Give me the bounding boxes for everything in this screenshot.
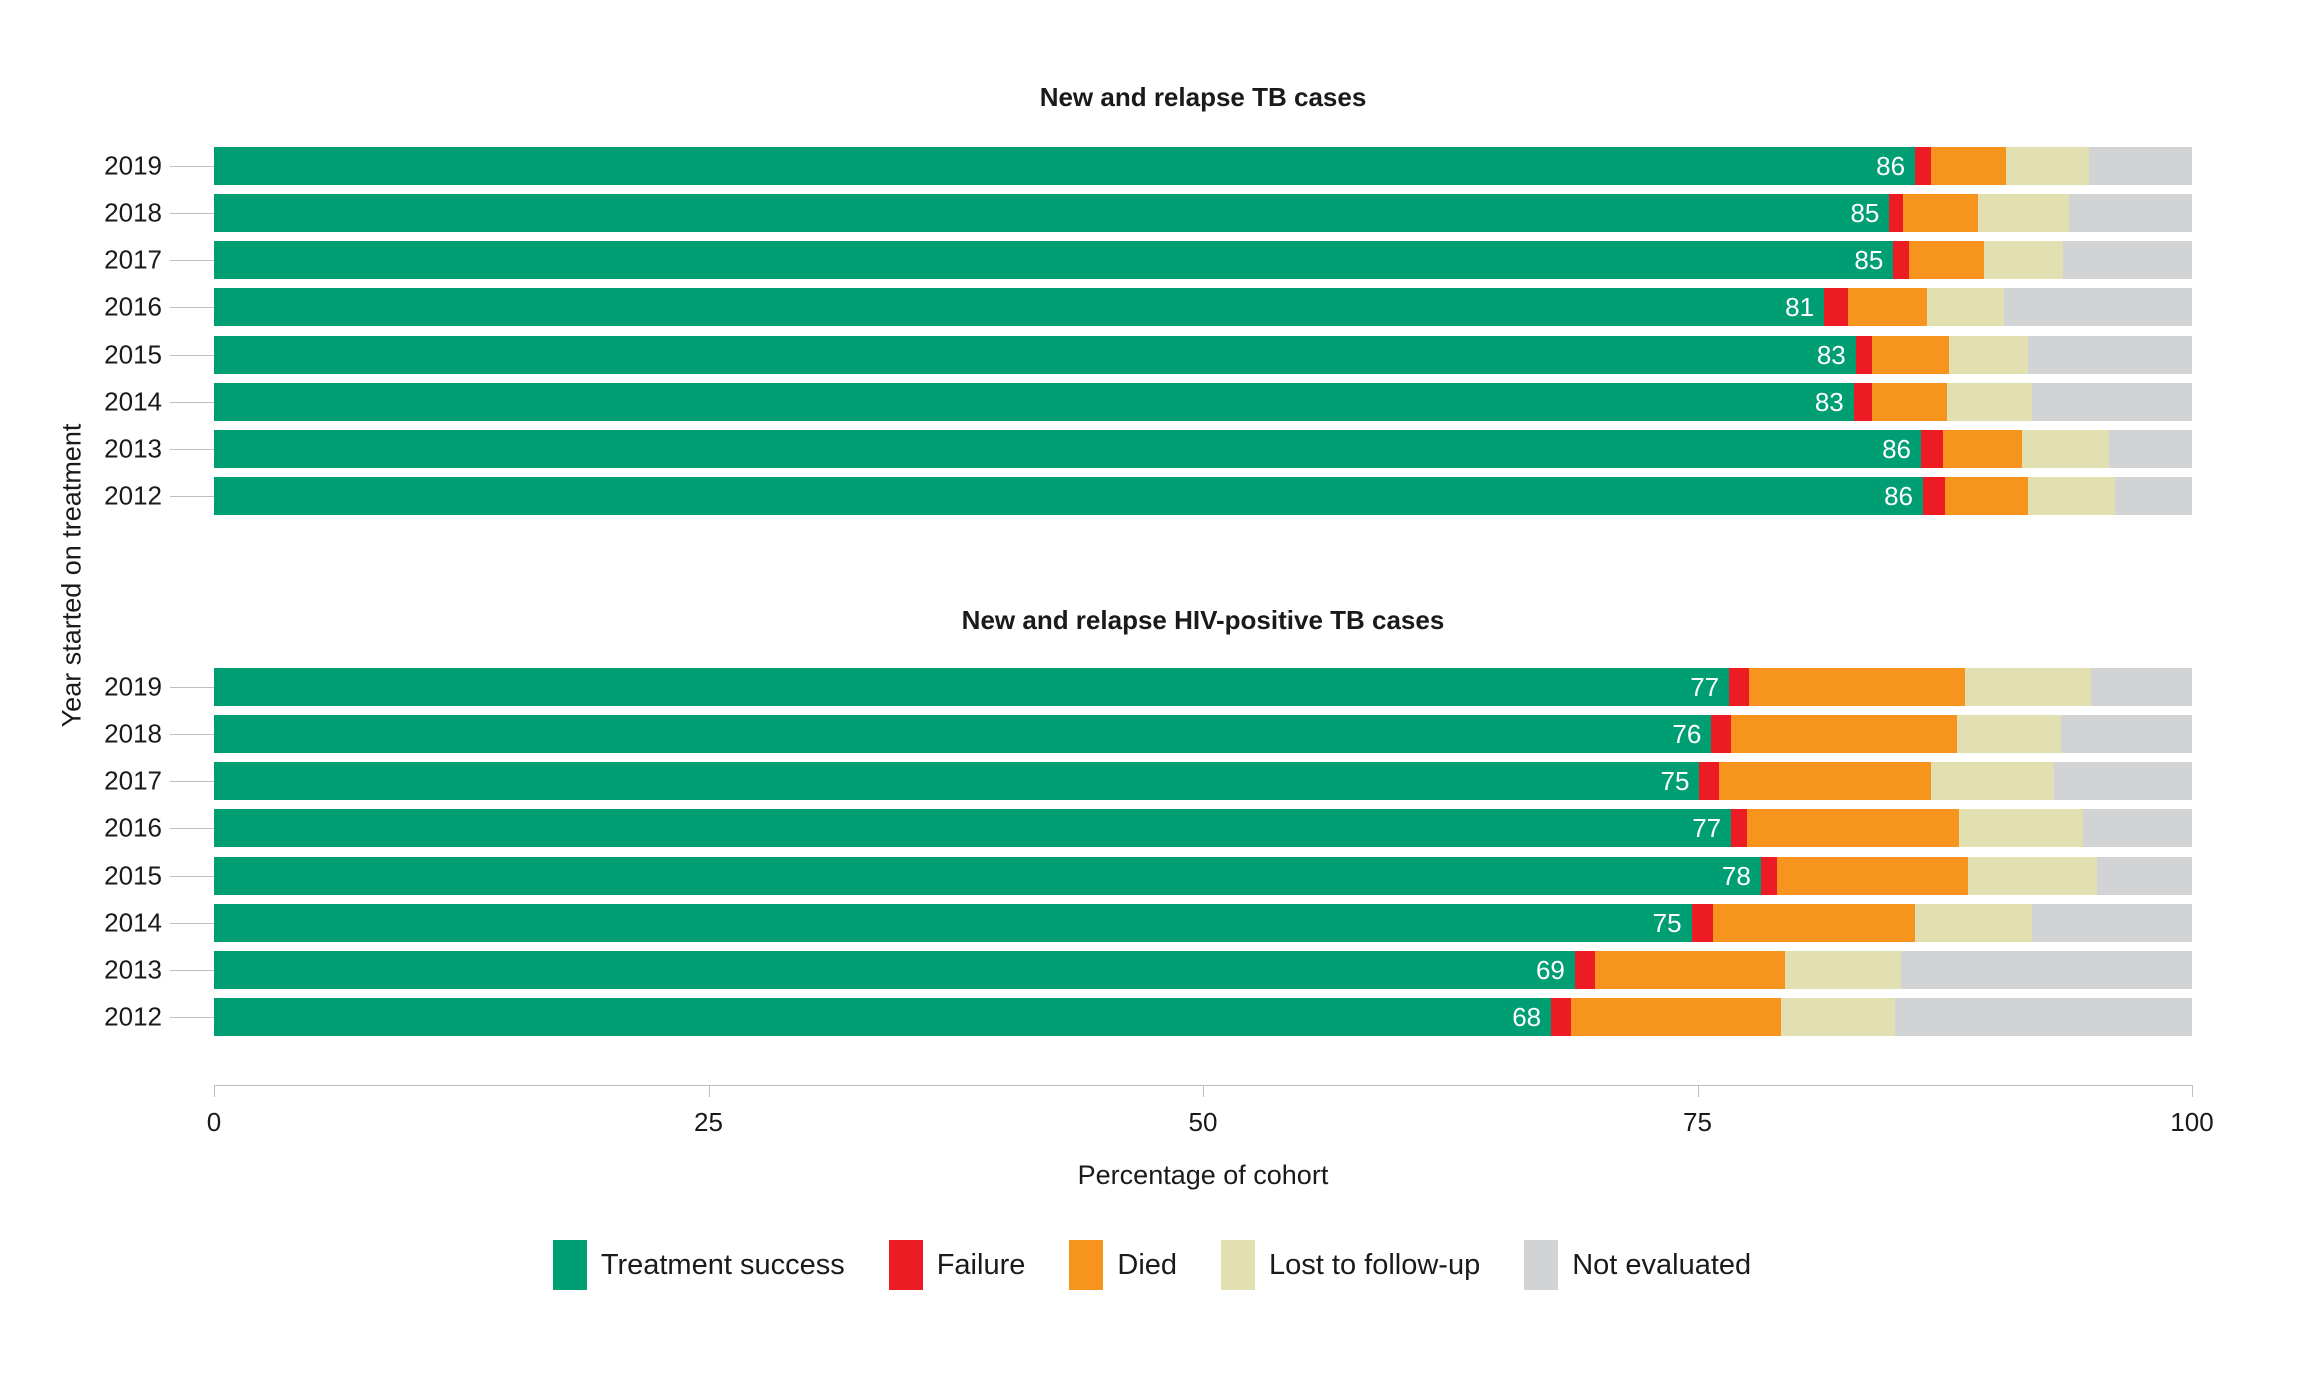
- bar-segment-not-evaluated[interactable]: [2063, 241, 2192, 279]
- bar-segment-failure[interactable]: [1761, 857, 1777, 895]
- legend-label: Lost to follow-up: [1269, 1249, 1480, 1282]
- stacked-bar[interactable]: 78: [214, 857, 2192, 895]
- bar-segment-treatment-success[interactable]: 83: [214, 336, 1856, 374]
- bar-segment-failure[interactable]: [1824, 288, 1848, 326]
- bar-value-label: 86: [1876, 153, 1905, 179]
- y-axis-tickmark: [170, 923, 214, 924]
- bar-row[interactable]: 201483: [214, 383, 2192, 421]
- bar-segment-not-evaluated[interactable]: [2032, 904, 2192, 942]
- bar-segment-died[interactable]: [1747, 809, 1959, 847]
- stacked-bar[interactable]: 81: [214, 288, 2192, 326]
- y-axis-tick-label: 2015: [104, 860, 162, 891]
- bar-segment-failure[interactable]: [1711, 715, 1731, 753]
- bar-row[interactable]: 201583: [214, 336, 2192, 374]
- bar-row[interactable]: 201885: [214, 194, 2192, 232]
- y-axis-tick-label: 2016: [104, 292, 162, 323]
- panel-new-and-relapse-hiv-positive-tb-cases: New and relapse HIV-positive TB cases 20…: [0, 560, 2304, 1120]
- bar-value-label: 83: [1815, 389, 1844, 415]
- bar-segment-treatment-success[interactable]: 78: [214, 857, 1761, 895]
- bar-segment-lost-to-follow-up[interactable]: [1968, 857, 2097, 895]
- bar-row[interactable]: 201677: [214, 809, 2192, 847]
- bar-segment-died[interactable]: [1777, 857, 1969, 895]
- x-axis-tickmark: [709, 1085, 710, 1097]
- figure-root: Year started on treatment New and relaps…: [0, 0, 2304, 1382]
- bar-segment-not-evaluated[interactable]: [2083, 809, 2192, 847]
- legend-item[interactable]: Died: [1069, 1240, 1177, 1290]
- bar-segment-lost-to-follow-up[interactable]: [2028, 477, 2115, 515]
- y-axis-tick-label: 2019: [104, 671, 162, 702]
- y-axis-tickmark: [170, 402, 214, 403]
- stacked-bar[interactable]: 85: [214, 194, 2192, 232]
- y-axis-tick-label: 2019: [104, 150, 162, 181]
- legend-item[interactable]: Treatment success: [553, 1240, 845, 1290]
- bar-segment-not-evaluated[interactable]: [2004, 288, 2192, 326]
- bar-row[interactable]: 201286: [214, 477, 2192, 515]
- bar-segment-treatment-success[interactable]: 69: [214, 951, 1575, 989]
- stacked-bar[interactable]: 77: [214, 809, 2192, 847]
- legend-item[interactable]: Failure: [889, 1240, 1026, 1290]
- legend-item[interactable]: Lost to follow-up: [1221, 1240, 1480, 1290]
- panel-new-and-relapse-tb-cases: New and relapse TB cases 201986201885201…: [0, 0, 2304, 600]
- bar-segment-lost-to-follow-up[interactable]: [2006, 147, 2089, 185]
- bar-segment-lost-to-follow-up[interactable]: [1931, 762, 2054, 800]
- bar-value-label: 69: [1536, 957, 1565, 983]
- bar-segment-treatment-success[interactable]: 68: [214, 998, 1551, 1036]
- bar-segment-treatment-success[interactable]: 86: [214, 477, 1923, 515]
- bar-segment-died[interactable]: [1931, 147, 2006, 185]
- stacked-bar[interactable]: 69: [214, 951, 2192, 989]
- bar-segment-died[interactable]: [1713, 904, 1915, 942]
- bar-segment-failure[interactable]: [1856, 336, 1872, 374]
- bar-segment-failure[interactable]: [1692, 904, 1714, 942]
- y-axis-tick-label: 2018: [104, 197, 162, 228]
- x-axis-tickmark: [2192, 1085, 2193, 1097]
- bar-segment-lost-to-follow-up[interactable]: [1927, 288, 2004, 326]
- stacked-bar[interactable]: 83: [214, 383, 2192, 421]
- bar-segment-failure[interactable]: [1915, 147, 1931, 185]
- y-axis-tick-label: 2018: [104, 718, 162, 749]
- x-axis-title: Percentage of cohort: [214, 1160, 2192, 1191]
- bar-segment-failure[interactable]: [1731, 809, 1747, 847]
- bar-segment-not-evaluated[interactable]: [2091, 668, 2192, 706]
- bar-segment-not-evaluated[interactable]: [2115, 477, 2192, 515]
- y-axis-tickmark: [170, 449, 214, 450]
- bar-segment-lost-to-follow-up[interactable]: [1947, 383, 2032, 421]
- x-axis-tick-label: 75: [1683, 1107, 1712, 1138]
- bar-row[interactable]: 201386: [214, 430, 2192, 468]
- bar-row[interactable]: 201681: [214, 288, 2192, 326]
- bar-segment-not-evaluated[interactable]: [2061, 715, 2192, 753]
- bar-segment-treatment-success[interactable]: 86: [214, 147, 1915, 185]
- bar-segment-lost-to-follow-up[interactable]: [1978, 194, 2069, 232]
- bar-value-label: 81: [1785, 294, 1814, 320]
- bar-segment-died[interactable]: [1945, 477, 2028, 515]
- legend-label: Died: [1117, 1249, 1177, 1282]
- bar-row[interactable]: 201268: [214, 998, 2192, 1036]
- plot-area: 2019772018762017752016772015782014752013…: [214, 663, 2192, 1041]
- y-axis-tickmark: [170, 496, 214, 497]
- bar-segment-died[interactable]: [1872, 336, 1949, 374]
- bar-segment-treatment-success[interactable]: 86: [214, 430, 1921, 468]
- panel-title: New and relapse HIV-positive TB cases: [214, 605, 2192, 636]
- bar-value-label: 77: [1692, 815, 1721, 841]
- legend: Treatment successFailureDiedLost to foll…: [0, 1240, 2304, 1290]
- y-axis-tickmark: [170, 1017, 214, 1018]
- bar-segment-treatment-success[interactable]: 77: [214, 809, 1731, 847]
- x-axis-tick-label: 25: [694, 1107, 723, 1138]
- bar-row[interactable]: 201775: [214, 762, 2192, 800]
- legend-swatch-icon: [1221, 1240, 1255, 1290]
- y-axis-tickmark: [170, 687, 214, 688]
- y-axis-tick-label: 2012: [104, 481, 162, 512]
- y-axis-tickmark: [170, 734, 214, 735]
- stacked-bar[interactable]: 83: [214, 336, 2192, 374]
- bar-segment-failure[interactable]: [1921, 430, 1943, 468]
- legend-swatch-icon: [553, 1240, 587, 1290]
- y-axis-tick-label: 2017: [104, 766, 162, 797]
- x-axis-tick-label: 100: [2170, 1107, 2213, 1138]
- bar-segment-treatment-success[interactable]: 75: [214, 904, 1692, 942]
- stacked-bar[interactable]: 85: [214, 241, 2192, 279]
- bar-segment-lost-to-follow-up[interactable]: [1949, 336, 2028, 374]
- bar-value-label: 77: [1690, 674, 1719, 700]
- y-axis-tickmark: [170, 970, 214, 971]
- bar-segment-died[interactable]: [1872, 383, 1947, 421]
- bar-segment-lost-to-follow-up[interactable]: [2022, 430, 2109, 468]
- y-axis-tickmark: [170, 781, 214, 782]
- stacked-bar[interactable]: 86: [214, 147, 2192, 185]
- bar-segment-treatment-success[interactable]: 76: [214, 715, 1711, 753]
- legend-swatch-icon: [1069, 1240, 1103, 1290]
- y-axis-tickmark: [170, 213, 214, 214]
- bar-segment-treatment-success[interactable]: 81: [214, 288, 1824, 326]
- y-axis-tickmark: [170, 876, 214, 877]
- bar-value-label: 68: [1512, 1004, 1541, 1030]
- y-axis-tick-label: 2012: [104, 1002, 162, 1033]
- bar-segment-lost-to-follow-up[interactable]: [1965, 668, 2092, 706]
- bar-value-label: 86: [1884, 483, 1913, 509]
- bar-segment-failure[interactable]: [1923, 477, 1945, 515]
- bar-segment-treatment-success[interactable]: 85: [214, 241, 1893, 279]
- stacked-bar[interactable]: 76: [214, 715, 2192, 753]
- bar-segment-lost-to-follow-up[interactable]: [1785, 951, 1902, 989]
- legend-swatch-icon: [889, 1240, 923, 1290]
- bar-segment-lost-to-follow-up[interactable]: [1957, 715, 2062, 753]
- bar-row[interactable]: 201876: [214, 715, 2192, 753]
- bar-value-label: 78: [1722, 863, 1751, 889]
- bar-segment-died[interactable]: [1909, 241, 1984, 279]
- bar-segment-died[interactable]: [1571, 998, 1781, 1036]
- y-axis-tick-label: 2014: [104, 907, 162, 938]
- bar-value-label: 83: [1817, 342, 1846, 368]
- legend-label: Treatment success: [601, 1249, 845, 1282]
- y-axis-tickmark: [170, 166, 214, 167]
- bar-segment-not-evaluated[interactable]: [1895, 998, 2192, 1036]
- legend-label: Not evaluated: [1572, 1249, 1751, 1282]
- x-axis-tick-label: 0: [207, 1107, 221, 1138]
- bar-segment-died[interactable]: [1848, 288, 1927, 326]
- x-axis: 0255075100: [214, 1085, 2192, 1086]
- bar-segment-treatment-success[interactable]: 83: [214, 383, 1854, 421]
- bar-segment-died[interactable]: [1719, 762, 1931, 800]
- plot-area: 2019862018852017852016812015832014832013…: [214, 142, 2192, 520]
- bar-segment-not-evaluated[interactable]: [2054, 762, 2192, 800]
- y-axis-tick-label: 2014: [104, 386, 162, 417]
- bar-segment-not-evaluated[interactable]: [2028, 336, 2192, 374]
- bar-segment-not-evaluated[interactable]: [2109, 430, 2192, 468]
- bar-value-label: 86: [1882, 436, 1911, 462]
- bar-segment-not-evaluated[interactable]: [2032, 383, 2192, 421]
- bar-segment-died[interactable]: [1943, 430, 2022, 468]
- stacked-bar[interactable]: 75: [214, 762, 2192, 800]
- bar-segment-failure[interactable]: [1729, 668, 1749, 706]
- bar-segment-failure[interactable]: [1889, 194, 1903, 232]
- x-axis-tickmark: [214, 1085, 215, 1097]
- bar-segment-lost-to-follow-up[interactable]: [1959, 809, 2084, 847]
- bar-segment-died[interactable]: [1595, 951, 1785, 989]
- stacked-bar[interactable]: 75: [214, 904, 2192, 942]
- bar-segment-died[interactable]: [1731, 715, 1956, 753]
- bar-segment-treatment-success[interactable]: 75: [214, 762, 1699, 800]
- legend-label: Failure: [937, 1249, 1026, 1282]
- bar-row[interactable]: 201475: [214, 904, 2192, 942]
- bar-segment-lost-to-follow-up[interactable]: [1781, 998, 1896, 1036]
- bar-segment-lost-to-follow-up[interactable]: [1915, 904, 2032, 942]
- bar-segment-not-evaluated[interactable]: [2069, 194, 2192, 232]
- y-axis-tickmark: [170, 355, 214, 356]
- legend-swatch-icon: [1524, 1240, 1558, 1290]
- bar-segment-not-evaluated[interactable]: [2089, 147, 2192, 185]
- y-axis-tick-label: 2016: [104, 813, 162, 844]
- stacked-bar[interactable]: 68: [214, 998, 2192, 1036]
- y-axis-tick-label: 2013: [104, 434, 162, 465]
- panel-title: New and relapse TB cases: [214, 82, 2192, 113]
- legend-item[interactable]: Not evaluated: [1524, 1240, 1751, 1290]
- bar-value-label: 85: [1850, 200, 1879, 226]
- bar-row[interactable]: 201369: [214, 951, 2192, 989]
- bar-segment-failure[interactable]: [1854, 383, 1872, 421]
- stacked-bar[interactable]: 77: [214, 668, 2192, 706]
- bar-segment-not-evaluated[interactable]: [2097, 857, 2192, 895]
- bar-row[interactable]: 201785: [214, 241, 2192, 279]
- y-axis-tickmark: [170, 260, 214, 261]
- stacked-bar[interactable]: 86: [214, 477, 2192, 515]
- bar-value-label: 75: [1653, 910, 1682, 936]
- x-axis-tickmark: [1203, 1085, 1204, 1097]
- y-axis-tick-label: 2015: [104, 339, 162, 370]
- y-axis-tick-label: 2017: [104, 245, 162, 276]
- bar-value-label: 85: [1854, 247, 1883, 273]
- bar-segment-failure[interactable]: [1893, 241, 1909, 279]
- bar-segment-treatment-success[interactable]: 77: [214, 668, 1729, 706]
- bar-value-label: 75: [1661, 768, 1690, 794]
- y-axis-tickmark: [170, 828, 214, 829]
- bar-segment-died[interactable]: [1749, 668, 1965, 706]
- bar-segment-failure[interactable]: [1551, 998, 1571, 1036]
- bar-segment-failure[interactable]: [1575, 951, 1595, 989]
- bar-value-label: 76: [1672, 721, 1701, 747]
- x-axis-tick-label: 50: [1189, 1107, 1218, 1138]
- bar-segment-not-evaluated[interactable]: [1901, 951, 2192, 989]
- stacked-bar[interactable]: 86: [214, 430, 2192, 468]
- bar-row[interactable]: 201977: [214, 668, 2192, 706]
- y-axis-tickmark: [170, 307, 214, 308]
- bar-segment-lost-to-follow-up[interactable]: [1984, 241, 2063, 279]
- bar-row[interactable]: 201578: [214, 857, 2192, 895]
- bar-row[interactable]: 201986: [214, 147, 2192, 185]
- x-axis-tickmark: [1698, 1085, 1699, 1097]
- bar-segment-failure[interactable]: [1699, 762, 1719, 800]
- y-axis-tick-label: 2013: [104, 955, 162, 986]
- bar-segment-treatment-success[interactable]: 85: [214, 194, 1889, 232]
- bar-segment-died[interactable]: [1903, 194, 1978, 232]
